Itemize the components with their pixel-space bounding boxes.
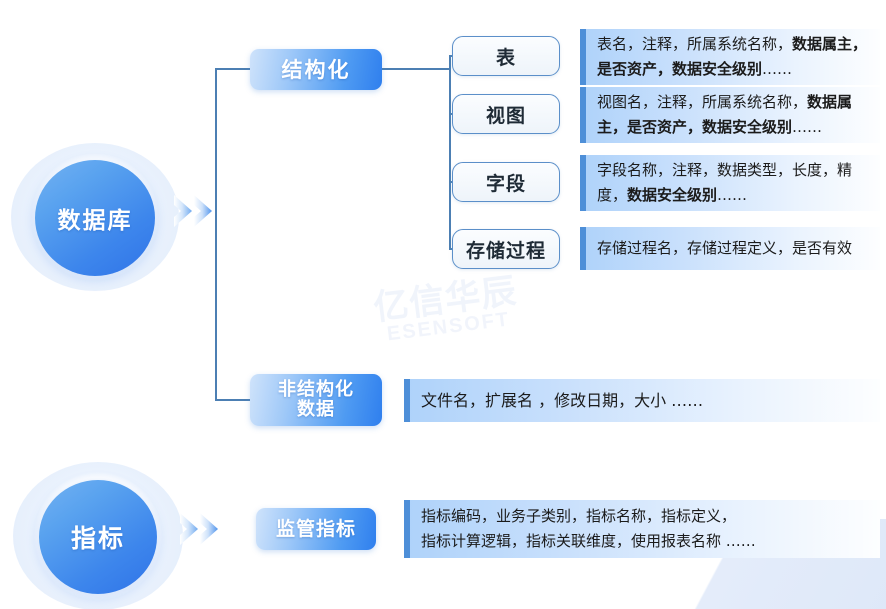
desc-unstructured-plain: 文件名，扩展名 ，修改日期，大小 …… <box>421 391 703 410</box>
desc-table-tail: …… <box>762 60 792 78</box>
node-view[interactable]: 视图 <box>452 94 560 134</box>
node-table[interactable]: 表 <box>452 36 560 76</box>
database-label: 数据库 <box>58 201 133 235</box>
desc-view-plain: 视图名，注释，所属系统名称， <box>597 93 807 111</box>
desc-block-stored-procedure: 存储过程名，存储过程定义，是否有效 <box>580 227 880 270</box>
database-circle: 数据库 <box>35 160 155 276</box>
desc-text-view: 视图名，注释，所属系统名称，数据属主，是否资产，数据安全级别…… <box>580 90 880 140</box>
desc-indicator-line2: 指标计算逻辑，指标关联维度，使用报表名称 …… <box>421 532 756 550</box>
node-view-label: 视图 <box>486 101 526 128</box>
indicator-node[interactable]: 指标 <box>13 462 183 609</box>
node-stored-procedure-label: 存储过程 <box>466 236 546 263</box>
node-field-label: 字段 <box>486 169 526 196</box>
node-unstructured-data[interactable]: 非结构化 数据 <box>250 374 382 426</box>
desc-text-regulatory-indicator: 指标编码，业务子类别，指标名称，指标定义， 指标计算逻辑，指标关联维度，使用报表… <box>404 504 764 554</box>
node-structured-label: 结构化 <box>282 60 351 80</box>
desc-text-table: 表名，注释，所属系统名称，数据属主，是否资产，数据安全级别…… <box>580 32 880 82</box>
node-regulatory-indicator[interactable]: 监管指标 <box>256 508 376 550</box>
node-table-label: 表 <box>496 43 516 70</box>
desc-block-field: 字段名称，注释，数据类型，长度，精度，数据安全级别…… <box>580 155 880 211</box>
desc-field-bold: 数据安全级别 <box>627 186 717 204</box>
node-field[interactable]: 字段 <box>452 162 560 202</box>
desc-block-regulatory-indicator: 指标编码，业务子类别，指标名称，指标定义， 指标计算逻辑，指标关联维度，使用报表… <box>404 500 880 558</box>
children-spine-line <box>449 55 451 249</box>
desc-text-field: 字段名称，注释，数据类型，长度，精度，数据安全级别…… <box>580 158 880 208</box>
desc-block-view: 视图名，注释，所属系统名称，数据属主，是否资产，数据安全级别…… <box>580 87 880 143</box>
node-unstructured-line1: 非结构化 <box>278 379 354 400</box>
desc-text-unstructured-data: 文件名，扩展名 ，修改日期，大小 …… <box>404 388 711 413</box>
node-structured[interactable]: 结构化 <box>250 49 382 90</box>
node-unstructured-line2: 数据 <box>297 399 335 420</box>
diagram-canvas: 数据库 结构化 表 <box>0 0 886 609</box>
desc-stored-procedure-plain: 存储过程名，存储过程定义，是否有效 <box>597 239 852 257</box>
desc-table-plain: 表名，注释，所属系统名称， <box>597 35 792 53</box>
desc-text-stored-procedure: 存储过程名，存储过程定义，是否有效 <box>580 236 860 261</box>
trunk-to-unstructured-line <box>215 399 251 401</box>
watermark-logo: 亿信华辰 ESENSOFT <box>349 271 545 358</box>
structured-out-line <box>382 68 450 70</box>
indicator-circle: 指标 <box>39 480 157 594</box>
trunk-to-structured-line <box>215 68 251 70</box>
desc-view-tail: …… <box>792 118 822 136</box>
database-arrow-icon <box>172 194 222 228</box>
watermark-en: ESENSOFT <box>353 304 544 349</box>
desc-block-table: 表名，注释，所属系统名称，数据属主，是否资产，数据安全级别…… <box>580 29 880 85</box>
database-node[interactable]: 数据库 <box>11 143 179 291</box>
indicator-arrow-icon <box>178 512 228 546</box>
desc-block-unstructured-data: 文件名，扩展名 ，修改日期，大小 …… <box>404 379 880 422</box>
desc-indicator-line1: 指标编码，业务子类别，指标名称，指标定义， <box>421 507 736 525</box>
indicator-label: 指标 <box>71 519 125 555</box>
node-regulatory-indicator-label: 监管指标 <box>276 519 356 539</box>
desc-field-tail: …… <box>717 186 747 204</box>
trunk-vertical-line <box>215 68 217 400</box>
node-unstructured-data-label: 非结构化 数据 <box>278 380 354 420</box>
node-stored-procedure[interactable]: 存储过程 <box>452 229 560 269</box>
watermark-cn: 亿信华辰 <box>349 271 542 330</box>
